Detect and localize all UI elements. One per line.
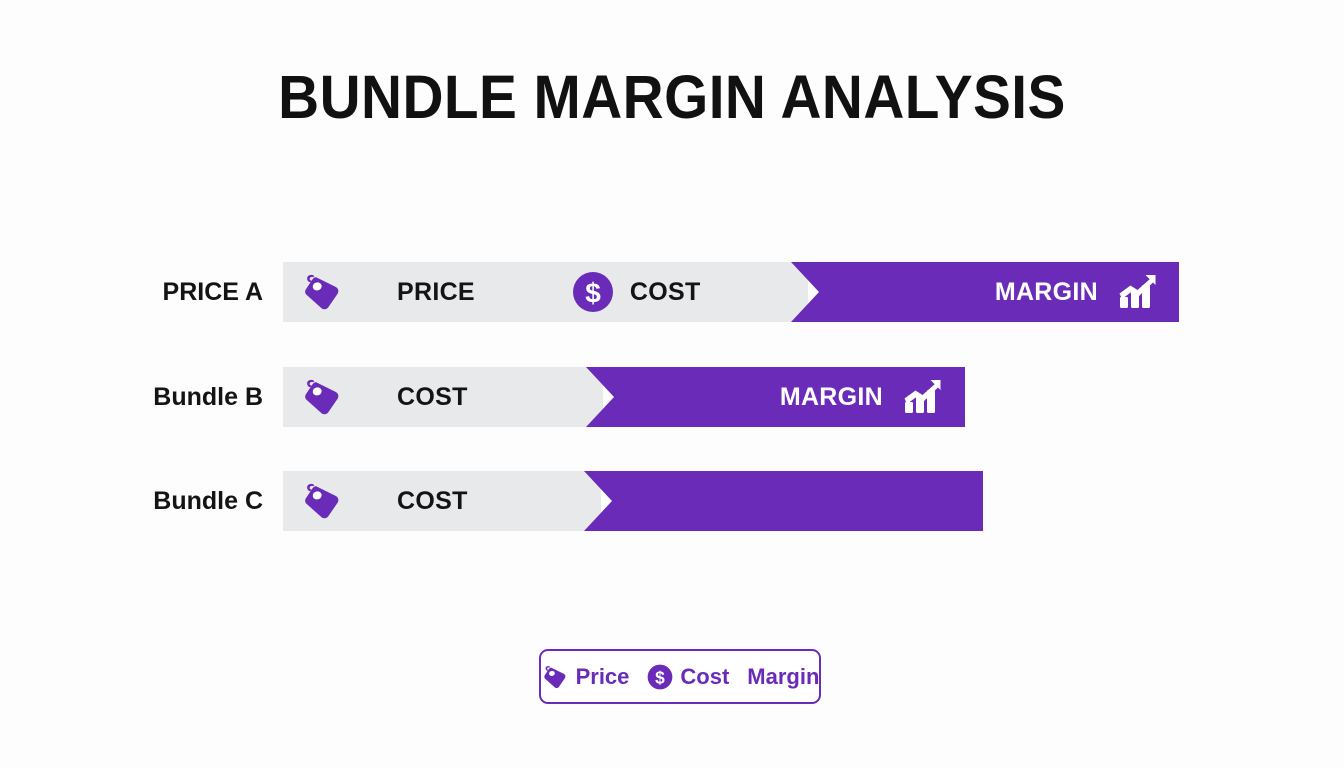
row-label-a: PRICE A [0,262,263,322]
bar-a-price-label: PRICE [397,278,475,307]
price-tag-icon [300,272,344,312]
bar-c: COST [283,471,983,531]
legend-label-price: Price [576,664,630,690]
bar-a-margin-segment[interactable]: MARGIN [791,262,1179,322]
bar-a-margin-label: MARGIN [995,278,1098,307]
bar-b-margin-segment[interactable]: MARGIN [586,367,965,427]
bar-b-margin-label: MARGIN [780,383,883,412]
bar-c-cost-label: COST [397,487,468,516]
bar-a-cost-segment[interactable]: PRICE $ COST [283,262,808,322]
price-tag-icon [541,664,569,690]
row-label-b: Bundle B [0,367,263,427]
bar-b: COST MARGIN [283,367,965,427]
legend-item-margin[interactable]: Margin [747,664,819,690]
bar-b-cost-label: COST [397,383,468,412]
growth-chart-icon [1117,273,1159,311]
svg-text:$: $ [585,278,601,309]
chart-row: Bundle B COST [0,367,1344,427]
price-tag-icon [300,481,344,521]
legend-label-cost: Cost [680,664,729,690]
growth-chart-icon [902,378,944,416]
legend: Price $ Cost Margin [539,649,821,704]
slide-canvas: BUNDLE MARGIN ANALYSIS PRICE A [0,0,1344,768]
bar-b-cost-segment[interactable]: COST [283,367,603,427]
svg-text:$: $ [656,667,666,687]
legend-label-margin: Margin [747,664,819,690]
bar-c-cost-segment[interactable]: COST [283,471,601,531]
bar-a: PRICE $ COST MARGIN [283,262,1179,322]
dollar-coin-icon: $ [647,664,673,690]
legend-item-cost[interactable]: $ Cost [647,664,729,690]
dollar-coin-icon: $ [572,271,614,313]
legend-item-price[interactable]: Price [541,664,630,690]
row-label-c: Bundle C [0,471,263,531]
bar-c-margin-segment[interactable] [584,471,983,531]
chart-row: Bundle C COST [0,471,1344,531]
chart-row: PRICE A PRICE [0,262,1344,322]
bar-a-cost-label: COST [630,278,701,307]
price-tag-icon [300,377,344,417]
